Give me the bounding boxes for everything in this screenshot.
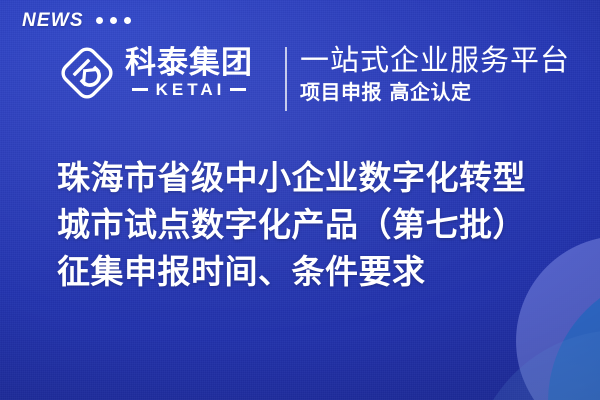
brand-name-en: KETAI — [153, 81, 226, 98]
rule-right-icon — [230, 88, 246, 91]
brand-name-cn: 科泰集团 — [125, 48, 253, 80]
dot-icon — [110, 17, 117, 24]
tagline-main: 一站式企业服务平台 — [300, 44, 570, 77]
ketai-logo-icon — [57, 43, 117, 103]
dot-icon — [124, 17, 131, 24]
banner-content: NEWS — [0, 0, 600, 400]
rule-left-icon — [132, 88, 148, 91]
tagline-block: 一站式企业服务平台 项目申报 高企认定 — [300, 44, 570, 104]
brand-wordmark: 科泰集团 KETAI — [125, 48, 253, 98]
news-kicker-label: NEWS — [22, 11, 84, 30]
news-banner: NEWS — [0, 0, 600, 400]
news-kicker-dots-icon — [96, 17, 131, 24]
dot-icon — [96, 17, 103, 24]
brand-name-en-row: KETAI — [132, 81, 247, 98]
brand-lockup: 科泰集团 KETAI — [57, 43, 253, 103]
header-divider — [285, 47, 287, 111]
news-kicker: NEWS — [22, 11, 131, 30]
headline-title: 珠海市省级中小企业数字化转型城市试点数字化产品（第七批）征集申报时间、条件要求 — [57, 155, 557, 296]
tagline-sub: 项目申报 高企认定 — [300, 80, 570, 104]
